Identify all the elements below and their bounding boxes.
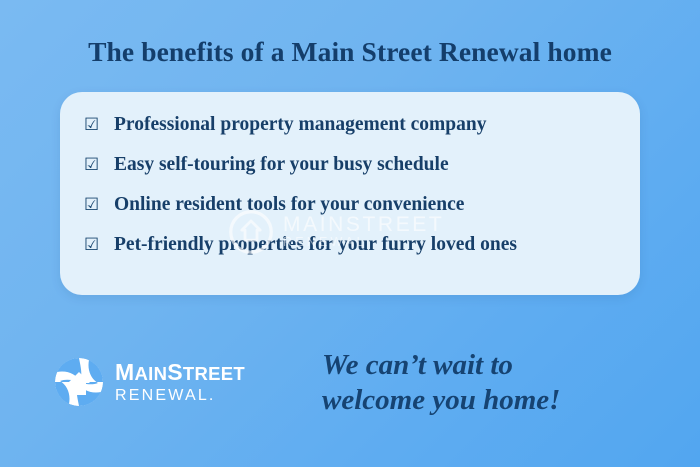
brand-subtitle: RENEWAL. [115, 388, 245, 404]
brand-name-m: M [115, 359, 134, 385]
brand-name-s: S [167, 359, 183, 385]
checkbox-checked-icon: ☑ [84, 237, 114, 254]
promotional-poster: The benefits of a Main Street Renewal ho… [0, 0, 700, 467]
list-item-label: Professional property management company [114, 114, 486, 136]
brand-wordmark: MAINSTREET RENEWAL. [115, 361, 245, 404]
brand-name: MAINSTREET [115, 361, 245, 384]
tagline-line-1: We can’t wait to [322, 348, 662, 383]
list-item-label: Pet-friendly properties for your furry l… [114, 234, 517, 256]
list-item: ☑ Pet-friendly properties for your furry… [60, 234, 640, 274]
mainstreet-renewal-logo: MAINSTREET RENEWAL. [54, 357, 245, 407]
mainstreet-aperture-logo-icon [54, 357, 104, 407]
page-title: The benefits of a Main Street Renewal ho… [0, 36, 700, 68]
list-item-label: Online resident tools for your convenien… [114, 194, 464, 216]
tagline: We can’t wait to welcome you home! [322, 348, 662, 419]
benefits-list: ☑ Professional property management compa… [60, 92, 640, 295]
brand-name-ain: AIN [134, 363, 167, 384]
checkbox-checked-icon: ☑ [84, 157, 114, 174]
list-item: ☑ Online resident tools for your conveni… [60, 194, 640, 234]
list-item: ☑ Easy self-touring for your busy schedu… [60, 154, 640, 194]
benefits-card: ☑ Professional property management compa… [60, 92, 640, 295]
checkbox-checked-icon: ☑ [84, 197, 114, 214]
brand-name-treet: TREET [183, 363, 245, 384]
list-item-label: Easy self-touring for your busy schedule [114, 154, 449, 176]
checkbox-checked-icon: ☑ [84, 117, 114, 134]
list-item: ☑ Professional property management compa… [60, 114, 640, 154]
tagline-line-2: welcome you home! [322, 383, 662, 418]
